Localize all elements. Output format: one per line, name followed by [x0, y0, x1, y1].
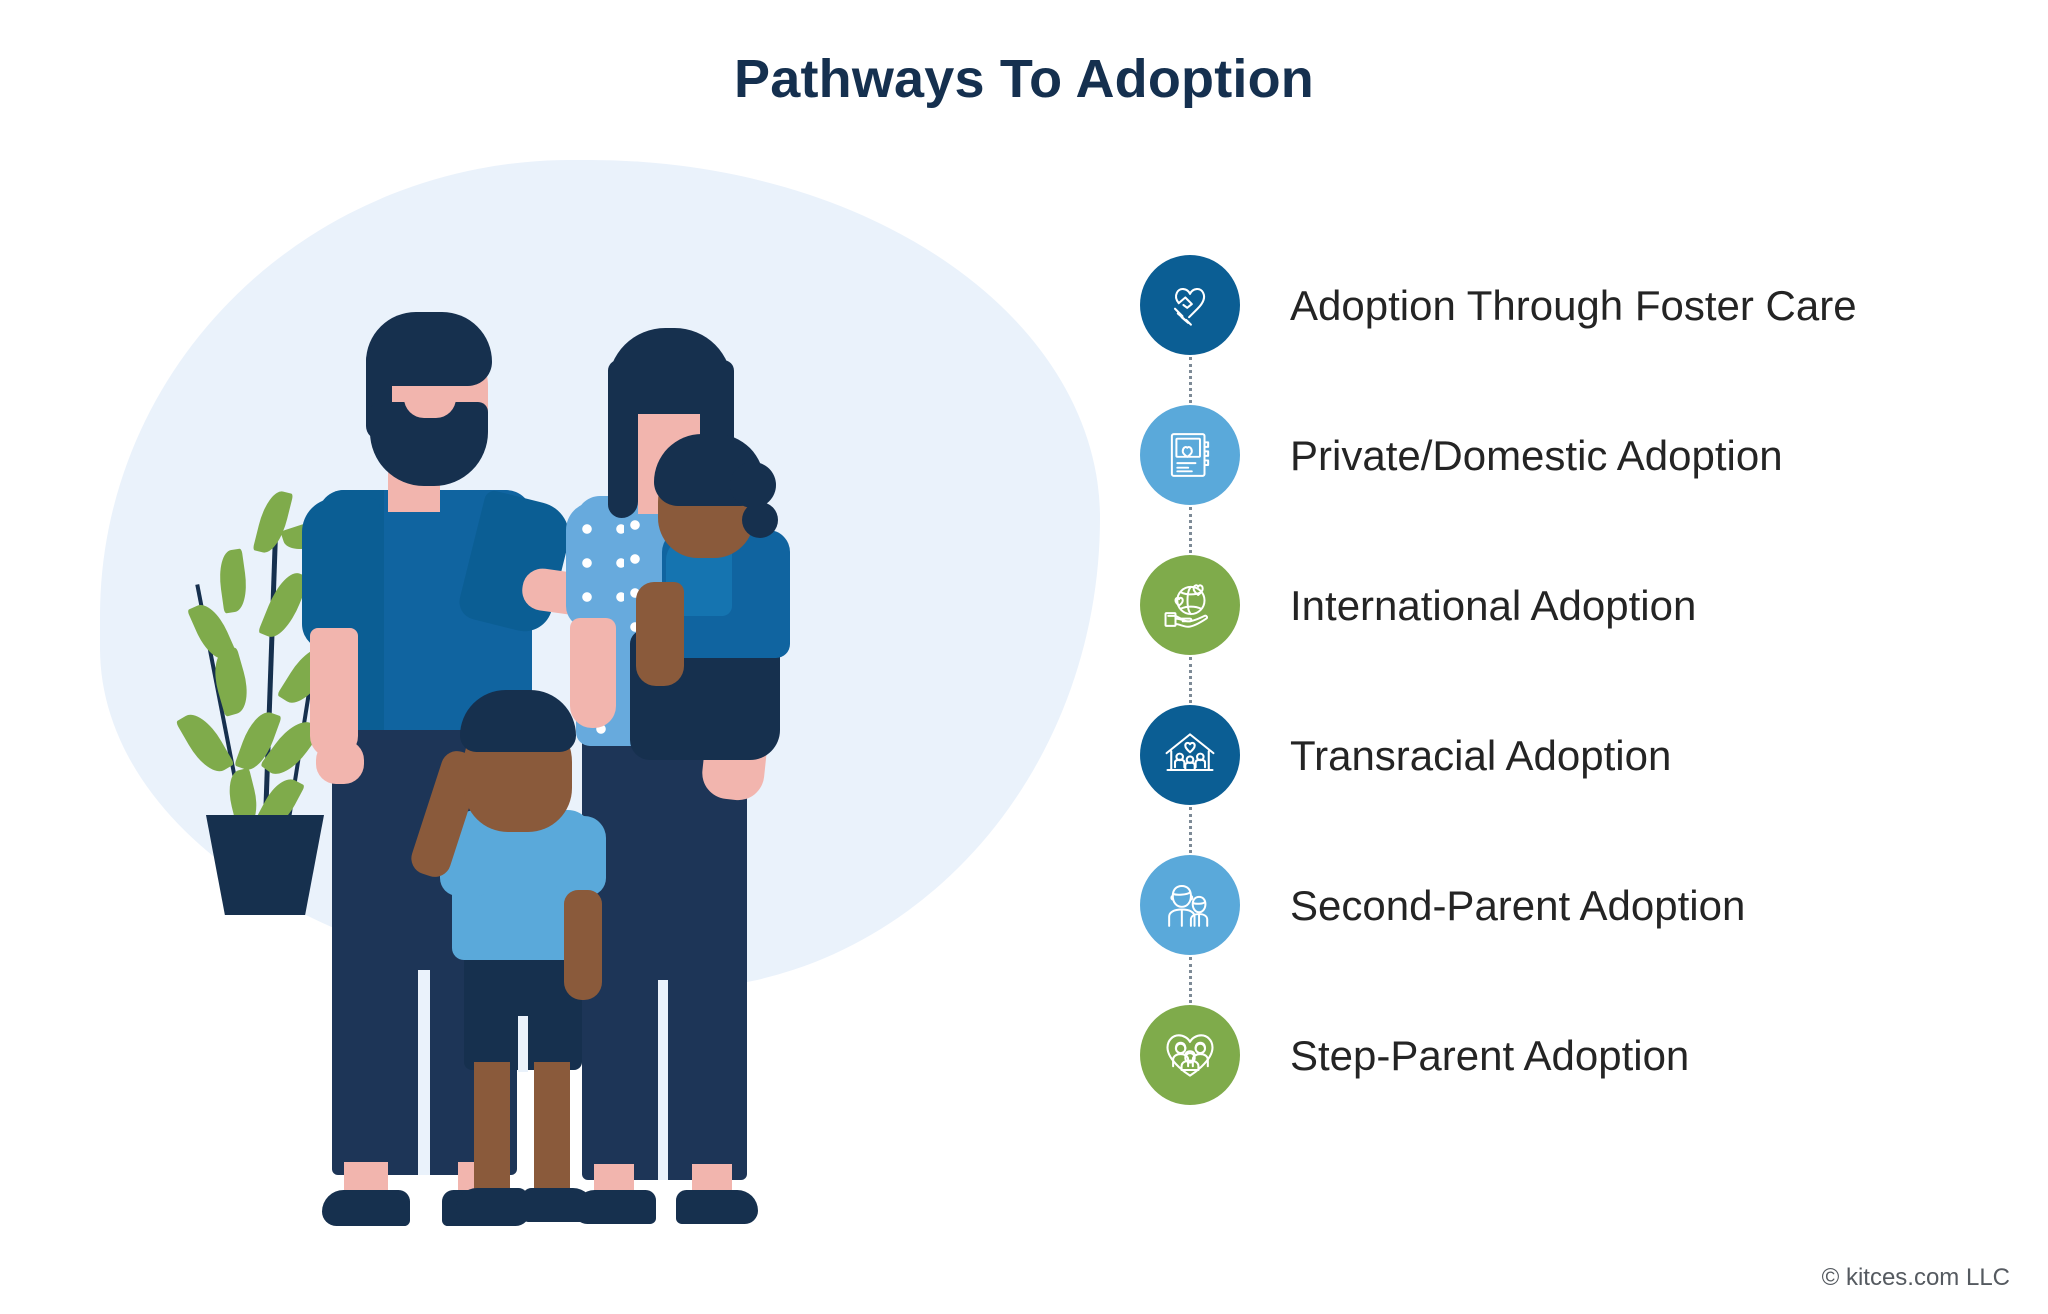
pathway-badge-1[interactable]	[1140, 255, 1240, 355]
house-family-heart-icon	[1160, 725, 1220, 785]
list-item[interactable]: International Adoption	[1140, 555, 2020, 705]
list-item[interactable]: Second-Parent Adoption	[1140, 855, 2020, 1005]
child-held-hair-puff	[742, 502, 778, 538]
child-standing-shorts-gap	[518, 1016, 528, 1072]
child-standing-sleeve-right	[556, 816, 606, 896]
mother-arm-left	[570, 618, 616, 728]
two-people-icon	[1161, 876, 1219, 934]
pathways-list: Adoption Through Foster Care Private/Dom…	[1140, 255, 2020, 1155]
pathway-label-6: Step-Parent Adoption	[1290, 1033, 1689, 1079]
list-connector	[1189, 357, 1192, 403]
mother-hair-left	[608, 360, 638, 518]
hand-holding-globe-hearts-icon	[1161, 576, 1219, 634]
mother-leg-gap	[658, 980, 668, 1180]
child-held-hair-puff	[730, 462, 776, 508]
mother-shoe-right	[676, 1190, 758, 1224]
pathway-badge-5[interactable]	[1140, 855, 1240, 955]
list-connector	[1189, 657, 1192, 703]
child-standing-shoe-left	[456, 1188, 528, 1222]
list-item[interactable]: Step-Parent Adoption	[1140, 1005, 2020, 1155]
pathway-label-1: Adoption Through Foster Care	[1290, 283, 1857, 329]
list-connector	[1189, 807, 1192, 853]
mother-sleeve-left	[566, 502, 624, 628]
plant-pot	[206, 815, 324, 915]
child-held-arm	[636, 582, 684, 686]
pathway-badge-4[interactable]	[1140, 705, 1240, 805]
list-item[interactable]: Private/Domestic Adoption	[1140, 405, 2020, 555]
infographic-canvas: Pathways To Adoption	[0, 0, 2048, 1314]
father-hand-left	[316, 740, 364, 784]
list-item[interactable]: Adoption Through Foster Care	[1140, 255, 2020, 405]
list-connector	[1189, 507, 1192, 553]
list-connector	[1189, 957, 1192, 1003]
pathway-label-4: Transracial Adoption	[1290, 733, 1671, 779]
pathway-label-3: International Adoption	[1290, 583, 1696, 629]
child-standing-leg-right	[534, 1062, 570, 1194]
family-illustration	[70, 150, 1120, 1220]
handshake-heart-icon	[1160, 275, 1220, 335]
pathway-badge-3[interactable]	[1140, 555, 1240, 655]
father-arm-left	[310, 628, 358, 758]
family-in-heart-icon	[1160, 1025, 1220, 1085]
pathway-label-5: Second-Parent Adoption	[1290, 883, 1745, 929]
adoption-document-icon	[1161, 426, 1219, 484]
child-standing-shoe-right	[522, 1188, 594, 1222]
pathway-badge-2[interactable]	[1140, 405, 1240, 505]
pathway-label-2: Private/Domestic Adoption	[1290, 433, 1783, 479]
child-standing-arm-right	[564, 890, 602, 1000]
father-leg-gap	[418, 970, 430, 1175]
copyright-footer: © kitces.com LLC	[1822, 1264, 2010, 1292]
page-title: Pathways To Adoption	[0, 48, 2048, 110]
child-standing-hair	[460, 690, 576, 752]
child-standing-leg-left	[474, 1062, 510, 1194]
list-item[interactable]: Transracial Adoption	[1140, 705, 2020, 855]
father-shoe-left	[322, 1190, 410, 1226]
pathway-badge-6[interactable]	[1140, 1005, 1240, 1105]
